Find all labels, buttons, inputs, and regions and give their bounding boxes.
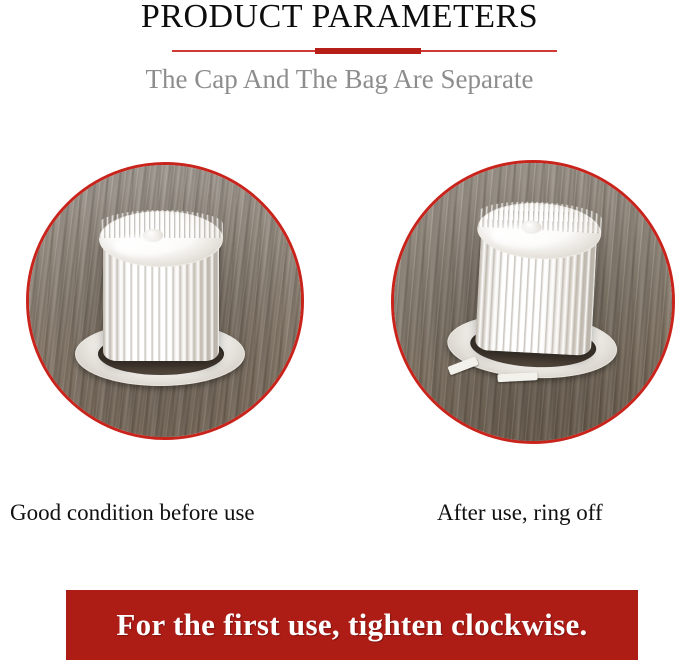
- instruction-banner: For the first use, tighten clockwise.: [66, 590, 638, 660]
- divider-thick-accent: [315, 48, 421, 54]
- plastic-cap-ring-off-icon: [462, 201, 611, 383]
- header-divider: [0, 47, 679, 55]
- cap-highlight-gloss: [113, 235, 175, 257]
- plastic-cap-intact-icon: [91, 213, 231, 388]
- instruction-banner-text: For the first use, tighten clockwise.: [116, 607, 587, 643]
- caption-photo-after: After use, ring off: [437, 498, 603, 528]
- page-title: PRODUCT PARAMETERS: [0, 0, 679, 38]
- product-photo-before: [26, 162, 304, 440]
- page-subtitle: The Cap And The Bag Are Separate: [0, 62, 679, 96]
- caption-photo-before: Good condition before use: [10, 498, 255, 528]
- product-photo-after: [391, 160, 675, 444]
